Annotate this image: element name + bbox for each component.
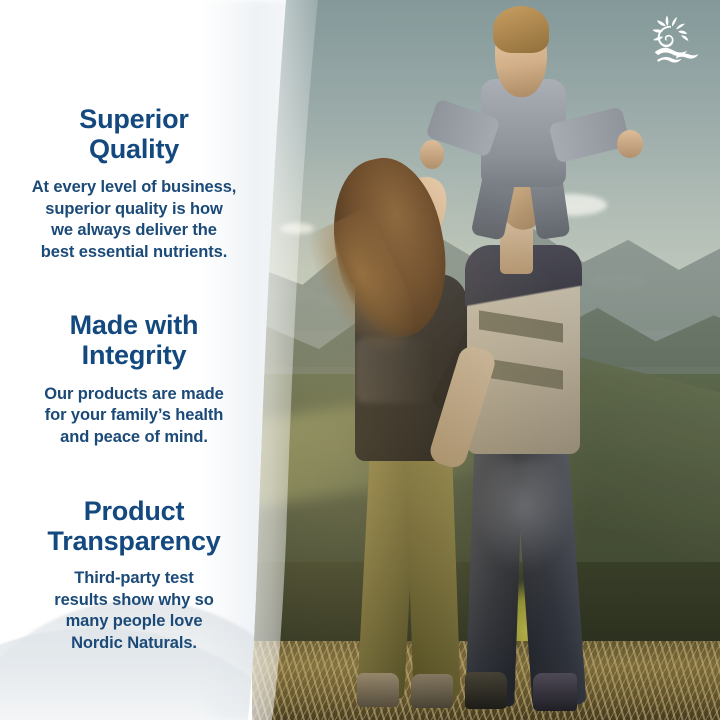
woman-shoe-left: [357, 673, 399, 708]
value-props-list: SuperiorQuality At every level of busine…: [0, 0, 268, 720]
value-prop-heading: Made withIntegrity: [8, 310, 260, 370]
child-hair: [493, 6, 549, 53]
value-prop-heading: ProductTransparency: [8, 496, 260, 556]
man-shoe-left: [465, 672, 507, 709]
value-prop-body: Our products are madefor your family’s h…: [8, 384, 260, 448]
woman-leg-right: [404, 431, 460, 699]
value-prop-product-transparency: ProductTransparency Third-party testresu…: [0, 496, 268, 654]
man-vest: [465, 245, 582, 439]
value-prop-heading: SuperiorQuality: [8, 104, 260, 164]
promo-banner: SuperiorQuality At every level of busine…: [0, 0, 720, 720]
value-prop-body: At every level of business,superior qual…: [8, 177, 260, 263]
value-prop-made-with-integrity: Made withIntegrity Our products are made…: [0, 310, 268, 448]
child-hand-left: [420, 140, 443, 169]
value-prop-body: Third-party testresults show why somany …: [8, 568, 260, 654]
man-shoe-right: [533, 673, 577, 712]
value-prop-superior-quality: SuperiorQuality At every level of busine…: [0, 104, 268, 263]
sun-wave-logo-icon: [648, 12, 704, 68]
woman-shoe-right: [411, 674, 453, 709]
child-hand-right: [617, 130, 643, 159]
man-jeans-highlight: [472, 461, 575, 576]
